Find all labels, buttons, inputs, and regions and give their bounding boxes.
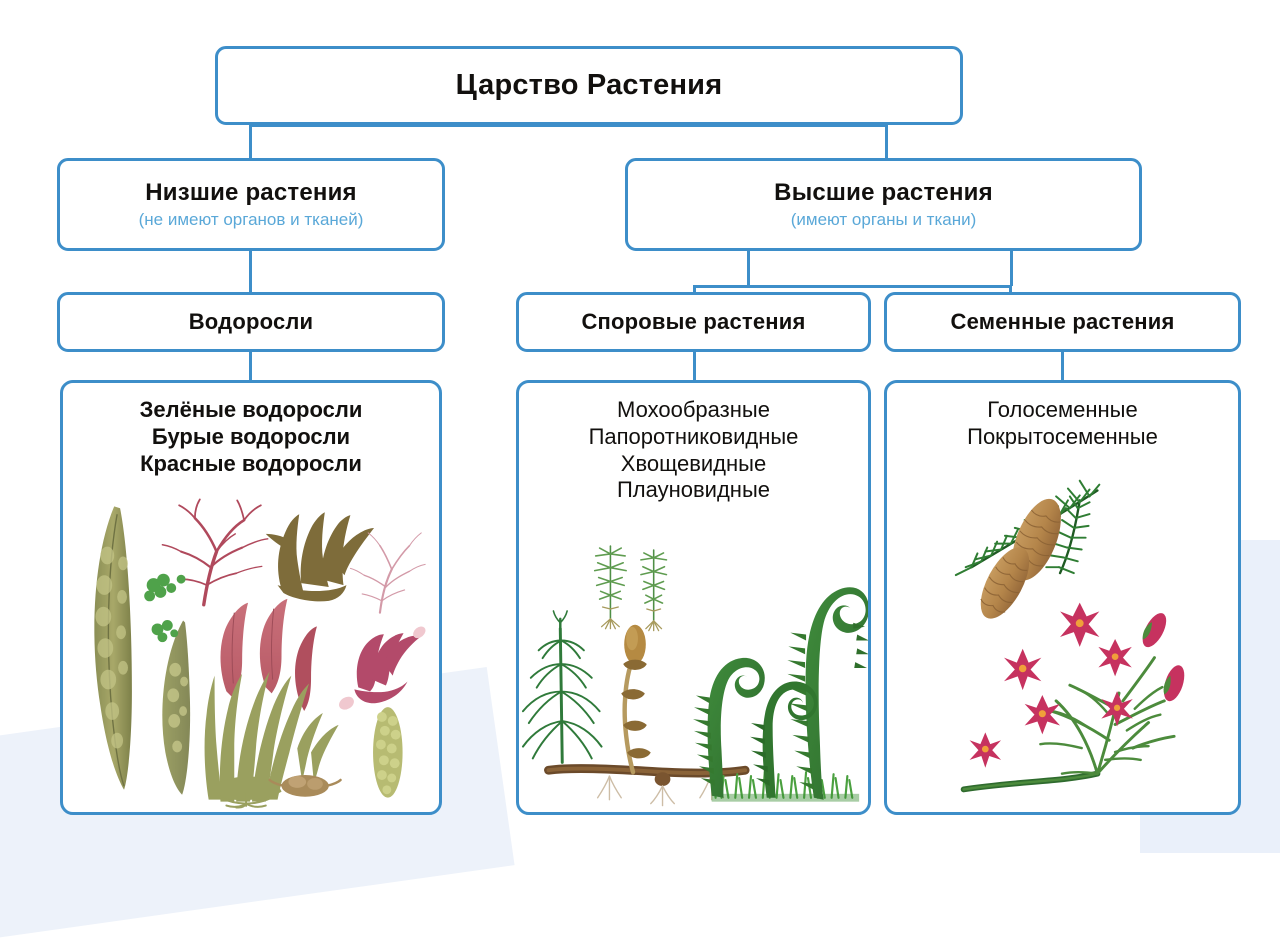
seed-plants-list: Голосеменные Покрытосеменные [887,383,1238,451]
algae-list: Зелёные водоросли Бурые водоросли Красны… [63,383,439,477]
spore-plants-list: Мохообразные Папоротниковидные Хвощевидн… [519,383,868,504]
connector-algae-to-panel [249,351,252,382]
list-item: Папоротниковидные [527,424,860,451]
node-spore-plants[interactable]: Споровые растения [516,292,871,352]
flower-bud [1160,663,1188,704]
flower [1098,639,1131,676]
list-item: Плауновидные [527,477,860,504]
flowering-plant [964,603,1189,790]
algae-illustration [63,492,439,812]
node-algae[interactable]: Водоросли [57,292,445,352]
ferns-mosses-horsetails-illustration [519,522,868,812]
connector-root-to-higher [885,124,888,160]
node-higher-plants[interactable]: Высшие растения (имеют органы и ткани) [625,158,1142,251]
diagram-canvas: Царство Растения Низшие растения (не име… [0,0,1280,853]
moss-shoot-right [641,550,667,631]
flower-bud [1138,609,1171,650]
list-item: Покрытосеменные [895,424,1230,451]
node-lower-plants-subtitle: (не имеют органов и тканей) [139,210,364,230]
conifer-branch-and-flowering-plant-illustration [887,462,1238,812]
node-algae-title: Водоросли [189,309,314,334]
horsetail-fertile-shoot [621,625,650,772]
list-item: Голосеменные [895,397,1230,424]
list-item: Мохообразные [527,397,860,424]
flower [970,732,1001,767]
list-item: Хвощевидные [527,451,860,478]
node-lower-plants-title: Низшие растения [145,179,357,207]
red-coral-alga [354,633,421,703]
flower [1060,603,1099,647]
brown-alga [266,512,374,601]
connector-seed-to-panel [1061,351,1064,382]
node-kingdom-plants[interactable]: Царство Растения [215,46,963,125]
node-seed-plants[interactable]: Семенные растения [884,292,1241,352]
connector-root-to-lower [249,124,252,160]
list-item: Красные водоросли [71,451,431,478]
kelp-blade-left [94,506,132,789]
node-spore-plants-title: Споровые растения [581,309,805,334]
kelp-blade-small [162,621,190,795]
panel-spore-plants: Мохообразные Папоротниковидные Хвощевидн… [516,380,871,815]
panel-seed-plants: Голосеменные Покрытосеменные [884,380,1241,815]
pink-feather-alga [350,533,425,613]
fern-fiddlehead-tall [787,587,868,799]
connector-higher-horizontal [693,285,1012,288]
node-higher-plants-title: Высшие растения [774,179,993,207]
node-kingdom-title: Царство Растения [456,69,723,102]
connector-spore-to-panel [693,351,696,382]
node-higher-plants-subtitle: (имеют органы и ткани) [791,210,977,230]
panel-algae: Зелёные водоросли Бурые водоросли Красны… [60,380,442,815]
horsetail-plant [523,611,602,762]
flower [1004,649,1041,690]
list-item: Зелёные водоросли [71,397,431,424]
connector-lower-to-algae [249,250,252,294]
connector-higher-stem-left [747,250,750,286]
node-seed-plants-title: Семенные растения [950,309,1174,334]
moss-shoot-left [595,546,626,629]
red-branching-alga [162,499,267,604]
node-lower-plants[interactable]: Низшие растения (не имеют органов и ткан… [57,158,445,251]
grape-alga [373,707,403,798]
connector-higher-stem-right [1010,250,1013,286]
list-item: Бурые водоросли [71,424,431,451]
conifer-branch [956,481,1100,626]
